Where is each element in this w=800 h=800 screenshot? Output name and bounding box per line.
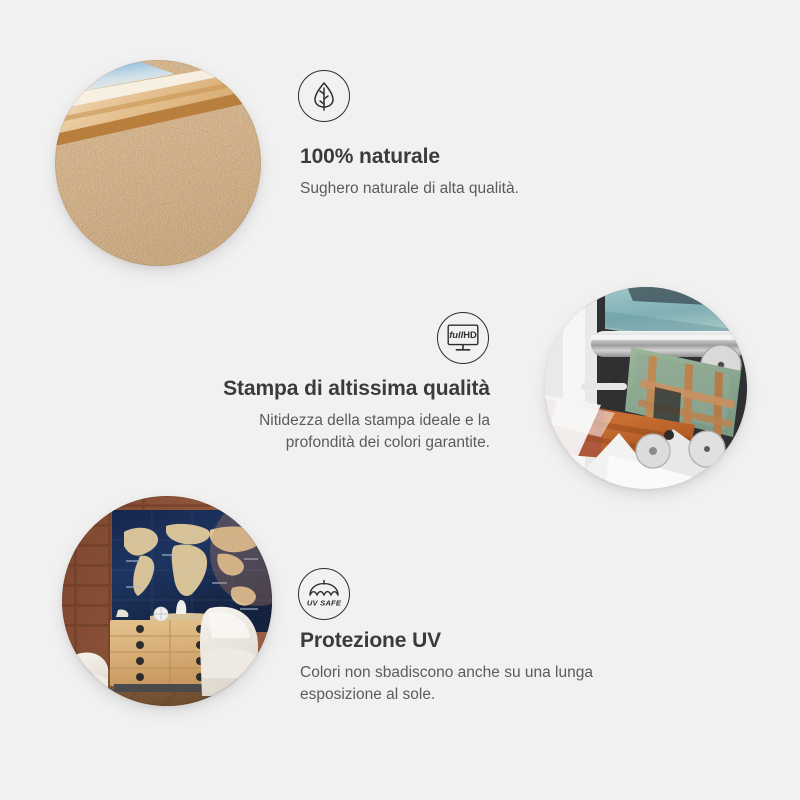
svg-text:fullHD: fullHD <box>449 329 477 340</box>
fullhd-monitor-icon: fullHD <box>437 312 489 364</box>
cork-texture-photo <box>55 60 261 266</box>
feature-description-print-quality-line2: profondità dei colori garantite. <box>150 432 490 454</box>
feature-title-print-quality: Stampa di altissima qualità <box>150 376 490 401</box>
feature-title-natural: 100% naturale <box>300 144 680 169</box>
uv-safe-label: UV SAFE <box>307 598 342 607</box>
fullhd-label-full: full <box>449 329 463 340</box>
feature-description-natural: Sughero naturale di alta qualità. <box>300 178 680 200</box>
feature-description-uv-protection-line1: Colori non sbadiscono anche su una lunga <box>300 662 700 684</box>
leaf-icon <box>298 70 350 122</box>
fullhd-label-hd: HD <box>463 329 477 340</box>
feature-description-uv-protection-line2: esposizione al sole. <box>300 684 700 706</box>
feature-description-print-quality-line1: Nitidezza della stampa ideale e la <box>150 410 490 432</box>
feature-highlights-panel: 100% naturale Sughero naturale di alta q… <box>0 0 800 800</box>
feature-text-natural: 100% naturale Sughero naturale di alta q… <box>300 144 680 200</box>
uv-safe-umbrella-icon: UV SAFE <box>298 568 350 620</box>
room-worldmap-photo <box>62 496 272 706</box>
feature-title-uv-protection: Protezione UV <box>300 628 700 653</box>
printing-machine-photo <box>545 287 747 489</box>
feature-text-print-quality: Stampa di altissima qualità Nitidezza de… <box>150 376 490 454</box>
feature-text-uv-protection: Protezione UV Colori non sbadiscono anch… <box>300 628 700 706</box>
